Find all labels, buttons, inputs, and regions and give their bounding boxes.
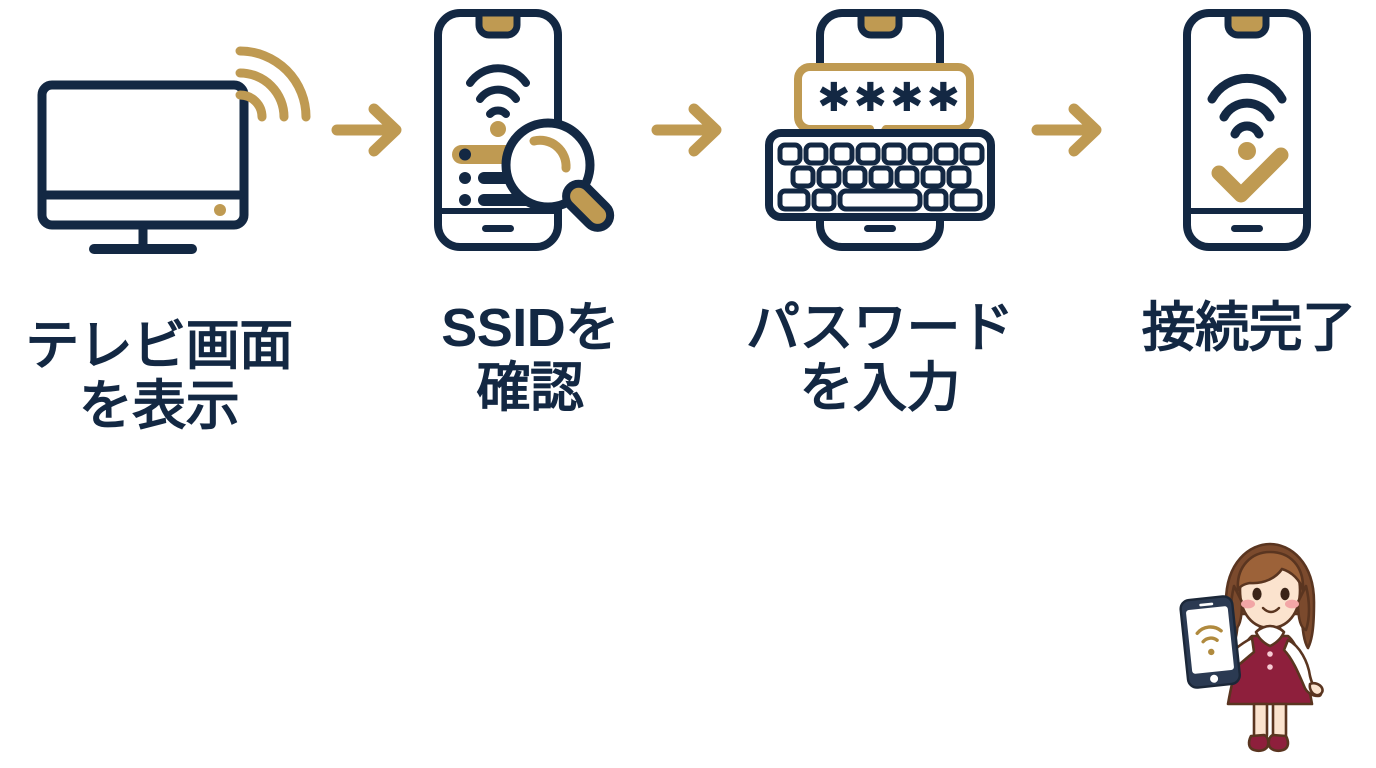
- step-1-label-line1: テレビ画面: [25, 316, 293, 376]
- infographic-canvas: テレビ画面 を表示: [0, 0, 1376, 768]
- girl-with-smartphone-illustration: [1172, 536, 1368, 762]
- step-2: SSIDを 確認: [422, 0, 638, 419]
- step-1-label-line2: を表示: [25, 376, 293, 436]
- step-4-label: 接続完了: [1142, 298, 1356, 358]
- step-3-label-line2: を入力: [746, 358, 1014, 418]
- password-mask-text: ✱✱✱✱: [817, 76, 963, 120]
- steps-row: テレビ画面 を表示: [0, 0, 1376, 600]
- step-1-label: テレビ画面 を表示: [25, 316, 293, 437]
- tv-wifi-icon: [34, 0, 284, 278]
- step-3-label-line1: パスワード: [746, 298, 1014, 358]
- arrow-right-icon-2: [638, 0, 742, 260]
- step-1: テレビ画面 を表示: [0, 0, 318, 437]
- arrow-right-icon-1: [318, 0, 422, 260]
- step-2-label-line1: SSIDを: [441, 298, 619, 358]
- mascot-phone: [1180, 596, 1241, 689]
- phone-wifi-check-icon: [1179, 0, 1319, 260]
- step-3-label: パスワード を入力: [746, 298, 1014, 419]
- step-3: ✱✱✱✱: [742, 0, 1018, 419]
- phone-keyboard-password-icon: ✱✱✱✱: [765, 0, 995, 260]
- step-4-label-line1: 接続完了: [1142, 298, 1356, 358]
- step-4: 接続完了: [1122, 0, 1376, 358]
- phone-ssid-search-icon: [430, 0, 630, 260]
- step-2-label: SSIDを 確認: [441, 298, 619, 419]
- arrow-right-icon-3: [1018, 0, 1122, 260]
- step-2-label-line2: 確認: [441, 358, 619, 418]
